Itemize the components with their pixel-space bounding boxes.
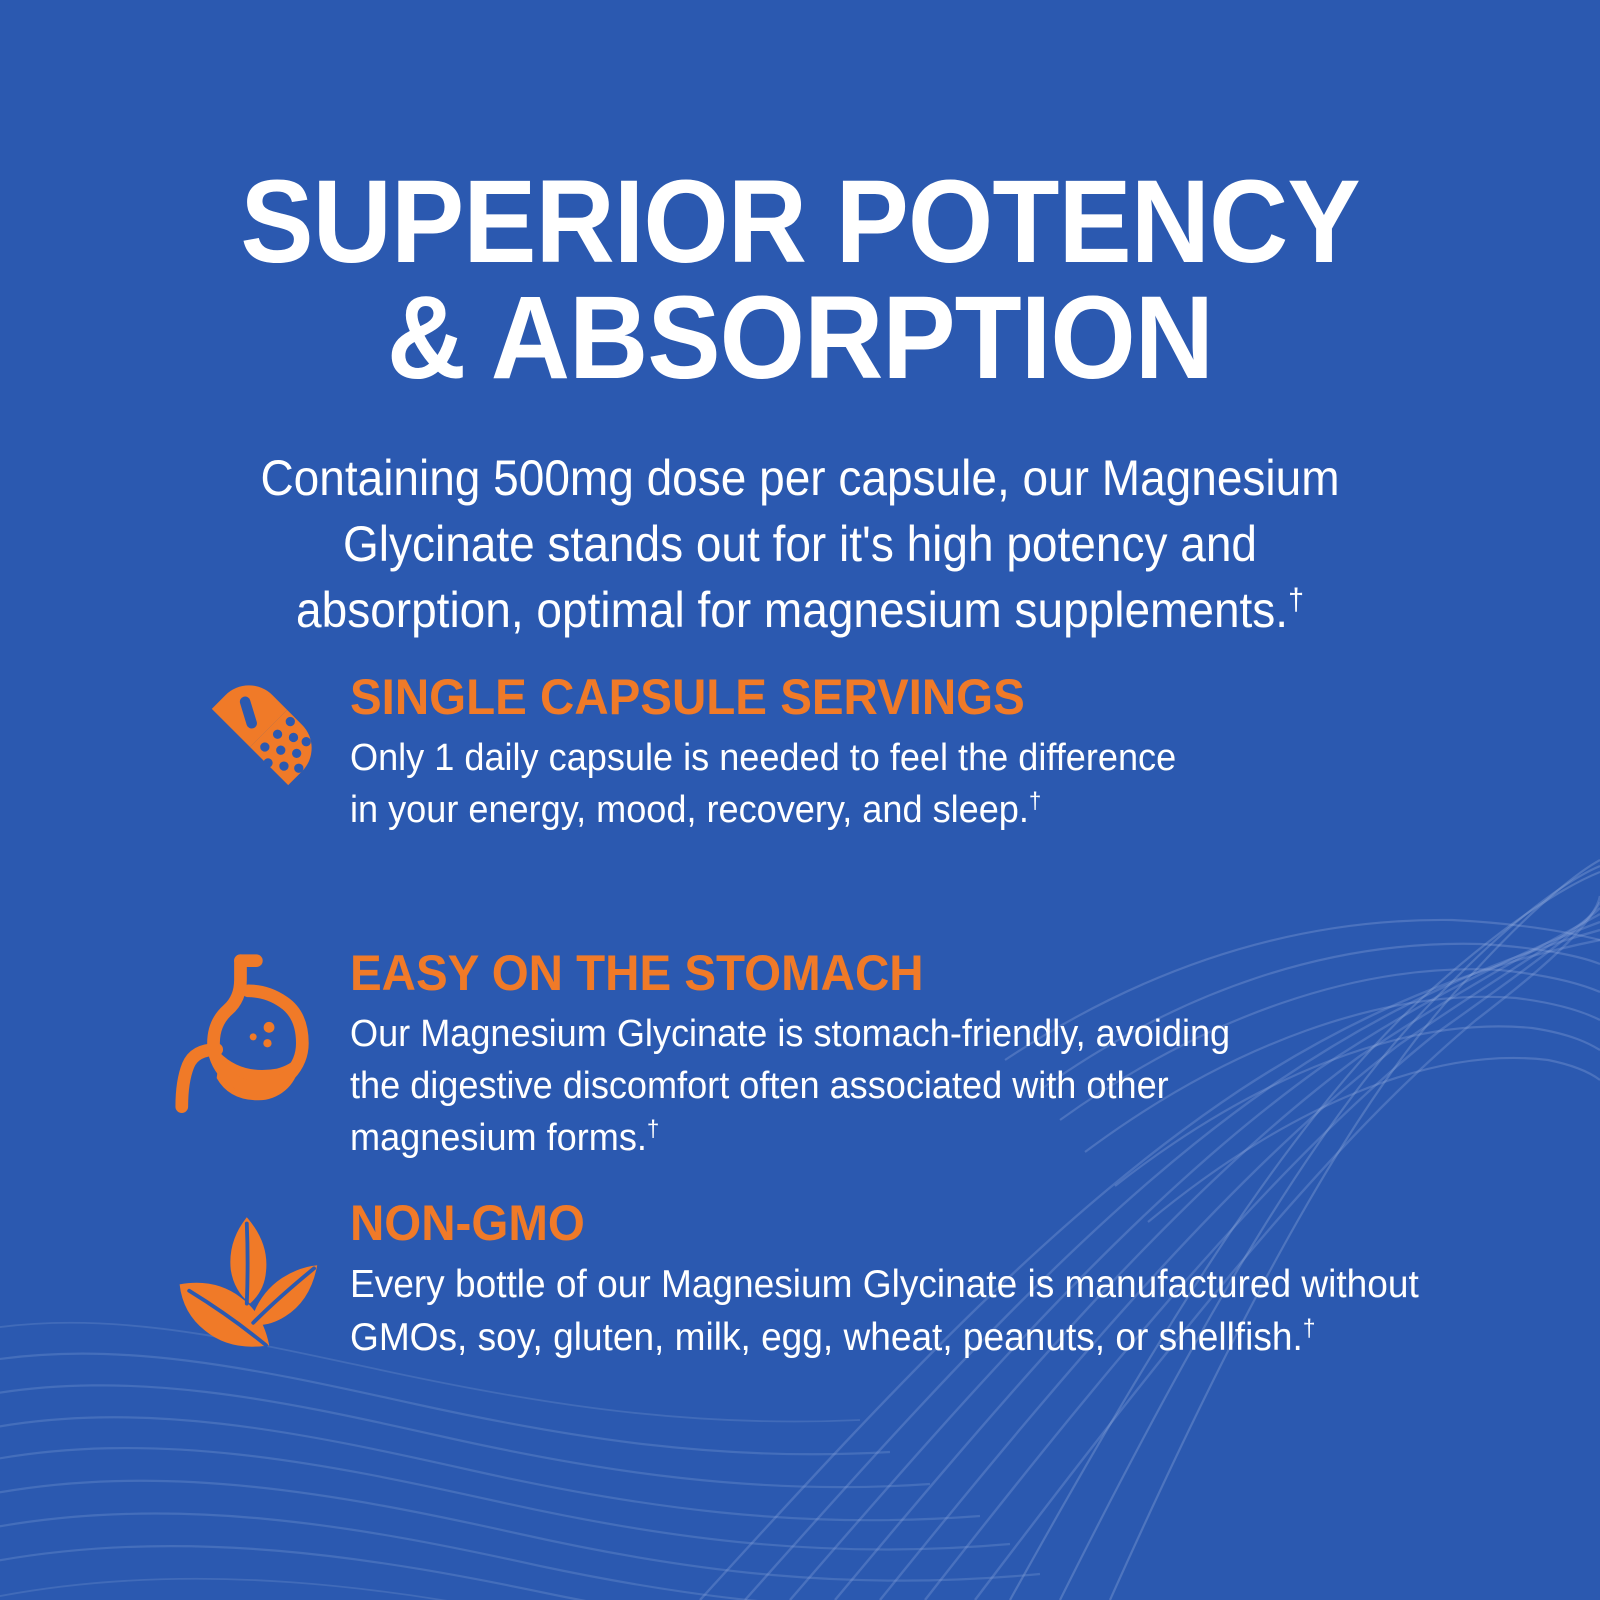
feature-title: SINGLE CAPSULE SERVINGS	[350, 672, 1424, 722]
feature-desc-line-2: the digestive discomfort often associate…	[350, 1060, 1424, 1112]
feature-title: NON-GMO	[350, 1198, 1490, 1248]
feature-desc-line-2-text: in your energy, mood, recovery, and slee…	[350, 789, 1029, 831]
feature-footnote-dagger: †	[1303, 1315, 1316, 1342]
intro-line-3: absorption, optimal for magnesium supple…	[184, 577, 1417, 643]
feature-desc-line-1: Only 1 daily capsule is needed to feel t…	[350, 732, 1424, 784]
feature-desc-line-3-text: magnesium forms.	[350, 1117, 647, 1159]
headline-line-2: & ABSORPTION	[158, 281, 1441, 397]
feature-description: Every bottle of our Magnesium Glycinate …	[350, 1258, 1490, 1365]
poster-content: SUPERIOR POTENCY & ABSORPTION Containing…	[0, 0, 1600, 1600]
feature-desc-line-3: magnesium forms.†	[350, 1112, 1424, 1164]
feature-non-gmo: NON-GMO Every bottle of our Magnesium Gl…	[150, 1198, 1550, 1365]
product-benefits-poster: SUPERIOR POTENCY & ABSORPTION Containing…	[0, 0, 1600, 1600]
feature-body: SINGLE CAPSULE SERVINGS Only 1 daily cap…	[350, 672, 1480, 836]
feature-title: EASY ON THE STOMACH	[350, 948, 1424, 998]
feature-footnote-dagger: †	[647, 1115, 659, 1141]
feature-desc-line-2: GMOs, soy, gluten, milk, egg, wheat, pea…	[350, 1311, 1490, 1364]
stomach-icon	[170, 948, 330, 1113]
leaves-icon	[170, 1198, 330, 1358]
feature-desc-line-1: Every bottle of our Magnesium Glycinate …	[350, 1258, 1490, 1311]
feature-footnote-dagger: †	[1029, 787, 1041, 813]
feature-easy-on-the-stomach: EASY ON THE STOMACH Our Magnesium Glycin…	[150, 948, 1480, 1164]
intro-line-3-text: absorption, optimal for magnesium supple…	[296, 582, 1288, 638]
intro-footnote-dagger: †	[1288, 581, 1304, 616]
feature-description: Only 1 daily capsule is needed to feel t…	[350, 732, 1424, 836]
headline-line-1: SUPERIOR POTENCY	[158, 165, 1441, 281]
feature-icon-slot	[150, 1198, 350, 1358]
feature-icon-slot	[150, 672, 350, 822]
feature-icon-slot	[150, 948, 350, 1113]
feature-desc-line-1: Our Magnesium Glycinate is stomach-frien…	[350, 1008, 1424, 1060]
feature-desc-line-2: in your energy, mood, recovery, and slee…	[350, 784, 1424, 836]
feature-single-capsule-servings: SINGLE CAPSULE SERVINGS Only 1 daily cap…	[150, 672, 1480, 836]
capsule-icon	[175, 672, 325, 822]
intro-line-2: Glycinate stands out for it's high poten…	[184, 511, 1417, 577]
page-title: SUPERIOR POTENCY & ABSORPTION	[158, 165, 1441, 396]
feature-description: Our Magnesium Glycinate is stomach-frien…	[350, 1008, 1424, 1164]
feature-body: EASY ON THE STOMACH Our Magnesium Glycin…	[350, 948, 1480, 1164]
feature-body: NON-GMO Every bottle of our Magnesium Gl…	[350, 1198, 1550, 1365]
intro-paragraph: Containing 500mg dose per capsule, our M…	[184, 445, 1417, 643]
intro-line-1: Containing 500mg dose per capsule, our M…	[184, 445, 1417, 511]
feature-desc-line-2-text: GMOs, soy, gluten, milk, egg, wheat, pea…	[350, 1316, 1303, 1359]
